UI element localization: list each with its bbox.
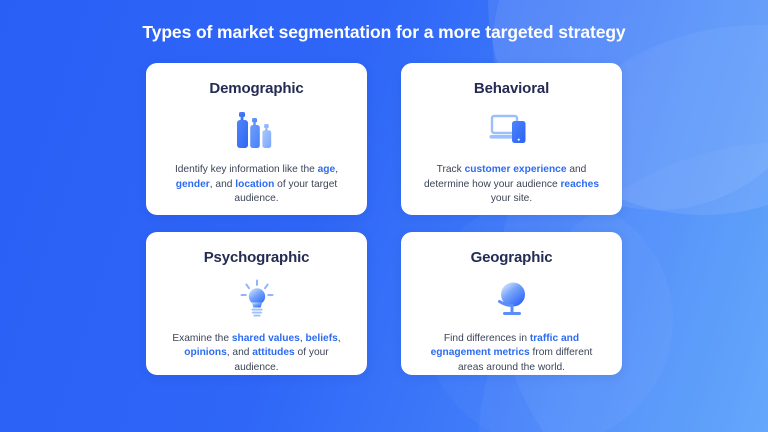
card-body: Find differences in traffic and egnageme… — [401, 332, 622, 376]
card-body: Track customer experience and determine … — [401, 163, 622, 207]
laptop-phone-icon — [489, 109, 535, 151]
card-body: Examine the shared values, beliefs, opin… — [146, 332, 367, 376]
card-title: Demographic — [209, 80, 303, 97]
card-title: Behavioral — [474, 80, 549, 97]
card-title: Psychographic — [204, 249, 310, 266]
card-title: Geographic — [471, 249, 553, 266]
card-behavioral: Behavioral Track customer experience and… — [401, 63, 622, 215]
card-geographic: Geographic Find differences in — [401, 232, 622, 375]
card-body: Identify key information like the age, g… — [146, 163, 367, 207]
page-title: Types of market segmentation for a more … — [0, 22, 768, 43]
lightbulb-icon — [236, 278, 278, 320]
card-demographic: Demographic — [146, 63, 367, 215]
people-bottles-icon — [233, 109, 281, 151]
card-psychographic: Psychographic — [146, 232, 367, 375]
segmentation-card-grid: Demographic — [146, 63, 622, 375]
globe-stand-icon — [492, 278, 532, 320]
